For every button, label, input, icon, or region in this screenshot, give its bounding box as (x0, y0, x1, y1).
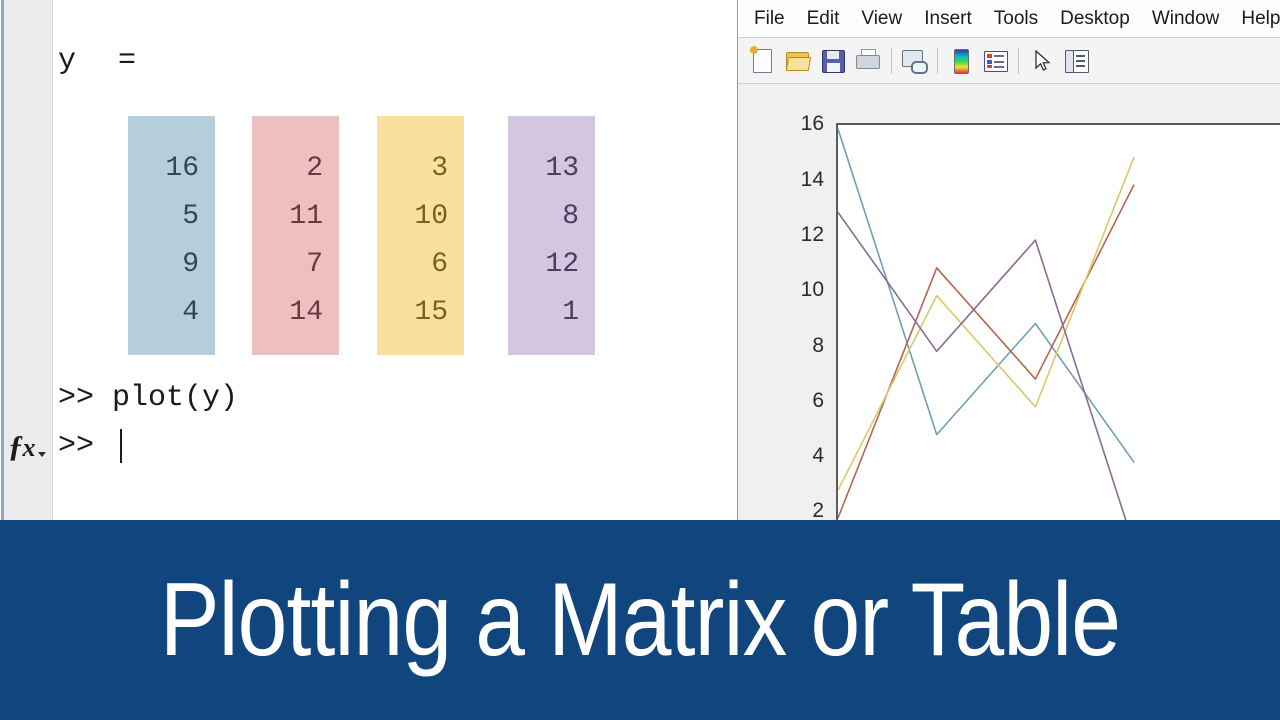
legend-icon[interactable] (980, 46, 1010, 76)
matlab-command-window[interactable]: ƒx y = 16 5 9 4 2 11 7 14 3 10 6 15 (0, 0, 737, 520)
text-cursor (120, 429, 122, 463)
matrix-cell: 1 (562, 289, 579, 337)
plot-line-column-4 (838, 212, 1134, 520)
matrix-cell: 15 (414, 289, 448, 337)
matrix-cell: 14 (289, 289, 323, 337)
link-plot-icon[interactable] (899, 46, 929, 76)
matrix-cell: 6 (431, 241, 448, 289)
command-prompt[interactable]: >> (58, 429, 94, 463)
matrix-column-4: 13 8 12 1 (508, 116, 595, 355)
menu-file[interactable]: File (754, 8, 785, 30)
y-axis-tick-label: 14 (778, 168, 824, 192)
print-figure-icon[interactable] (853, 46, 883, 76)
y-axis-tick-label: 16 (778, 112, 824, 136)
command-line-plot: >> plot(y) (58, 381, 238, 415)
matrix-cell: 13 (545, 145, 579, 193)
matrix-cell: 9 (182, 241, 199, 289)
toolbar-separator (937, 48, 938, 74)
figure-toolbar[interactable] (738, 39, 1280, 84)
matrix-cell: 16 (165, 145, 199, 193)
plot-tools-icon[interactable] (1061, 46, 1091, 76)
title-banner: Plotting a Matrix or Table (0, 520, 1280, 720)
y-axis-tick-label: 4 (778, 444, 824, 468)
y-axis-tick-label: 6 (778, 389, 824, 413)
y-axis-tick-label: 10 (778, 278, 824, 302)
menu-edit[interactable]: Edit (807, 8, 840, 30)
colorbar-icon[interactable] (945, 46, 975, 76)
menu-tools[interactable]: Tools (994, 8, 1038, 30)
matrix-cell: 11 (289, 193, 323, 241)
chevron-down-icon[interactable] (38, 452, 46, 457)
toolbar-separator (1018, 48, 1019, 74)
save-figure-icon[interactable] (818, 46, 848, 76)
menu-insert[interactable]: Insert (924, 8, 972, 30)
matrix-column-1: 16 5 9 4 (128, 116, 215, 355)
matrix-cell: 8 (562, 193, 579, 241)
screenshot-root: ƒx y = 16 5 9 4 2 11 7 14 3 10 6 15 (0, 0, 1280, 720)
matrix-cell: 2 (306, 145, 323, 193)
matrix-cell: 3 (431, 145, 448, 193)
matrix-cell: 12 (545, 241, 579, 289)
variable-output-label: y = (58, 44, 138, 78)
open-file-icon[interactable] (783, 46, 813, 76)
banner-title-text: Plotting a Matrix or Table (90, 520, 1191, 720)
matrix-cell: 7 (306, 241, 323, 289)
plot-axes[interactable] (836, 123, 1280, 520)
y-axis-tick-label: 12 (778, 223, 824, 247)
toolbar-separator (891, 48, 892, 74)
matrix-cell: 10 (414, 193, 448, 241)
edit-plot-pointer-icon[interactable] (1026, 46, 1056, 76)
fx-icon[interactable]: ƒx (8, 424, 50, 468)
plot-lines (838, 125, 1280, 520)
y-axis-tick-label: 8 (778, 334, 824, 358)
matrix-column-3: 3 10 6 15 (377, 116, 464, 355)
figure-menu-bar[interactable]: File Edit View Insert Tools Desktop Wind… (738, 0, 1280, 38)
menu-window[interactable]: Window (1152, 8, 1220, 30)
menu-help[interactable]: Help (1241, 8, 1280, 30)
menu-desktop[interactable]: Desktop (1060, 8, 1130, 30)
matrix-cell: 4 (182, 289, 199, 337)
matrix-display: 16 5 9 4 2 11 7 14 3 10 6 15 13 8 12 1 (128, 116, 598, 355)
menu-view[interactable]: View (861, 8, 902, 30)
matrix-column-2: 2 11 7 14 (252, 116, 339, 355)
new-figure-icon[interactable] (748, 46, 778, 76)
matrix-cell: 5 (182, 193, 199, 241)
